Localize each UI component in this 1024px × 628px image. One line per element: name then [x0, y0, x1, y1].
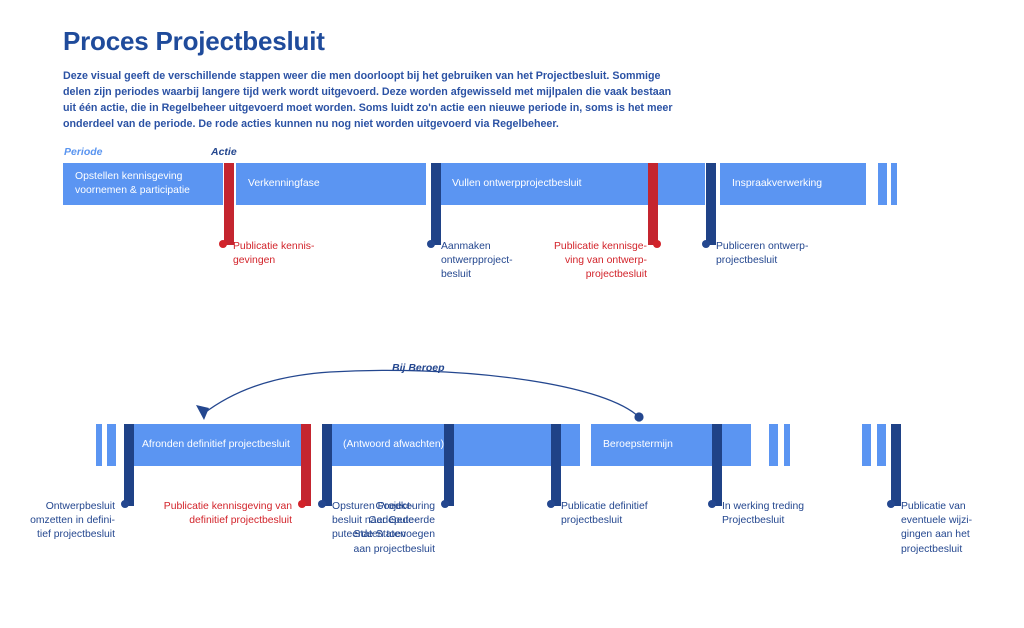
marker-dot-icon	[298, 500, 306, 508]
marker-dot-icon	[702, 240, 710, 248]
period-bar-afronden-definitief-projectbesluit[interactable]: Afronden definitief projectbesluit	[130, 424, 302, 466]
action-label-publiceren-ontwerpprojectbesluit: Publiceren ontwerp- projectbesluit	[702, 240, 832, 268]
timeline-continuation-stub	[862, 424, 871, 466]
action-marker-opsturen-projectbesluit[interactable]	[322, 424, 332, 506]
period-bar-antwoord-afwachten[interactable]: (Antwoord afwachten)	[331, 424, 580, 466]
action-label-line: Staten toevoegen	[354, 529, 435, 540]
action-marker-publicatie-kennisgevingen[interactable]	[224, 163, 234, 245]
action-label-line: projectbesluit	[561, 515, 622, 526]
marker-dot-icon	[708, 500, 716, 508]
period-bar-label: Opstellen kennisgeving voornemen & parti…	[75, 170, 211, 197]
action-label-line: projectbesluit	[586, 269, 647, 280]
action-label-line: tief projectbesluit	[37, 529, 115, 540]
marker-dot-icon	[318, 500, 326, 508]
action-marker-aanmaken-ontwerpprojectbesluit[interactable]	[431, 163, 441, 245]
action-marker-publicatie-kennisgeving-ontwerpprojectbesluit[interactable]	[648, 163, 658, 245]
action-label-line: eventuele wijzi-	[901, 515, 972, 526]
timeline-continuation-stub	[784, 424, 790, 466]
action-label-line: projectbesluit	[716, 255, 777, 266]
action-label-line: Publicatie kennisgeving van	[164, 501, 292, 512]
period-bar-label: (Antwoord afwachten)	[343, 438, 444, 452]
action-label-aanmaken-ontwerpprojectbesluit: Aanmaken ontwerpproject- besluit	[427, 240, 537, 283]
action-label-ontwerpbesluit-omzetten: Ontwerpbesluit omzetten in defini- tief …	[12, 500, 129, 543]
arrow-path	[203, 370, 639, 417]
action-label-publicatie-kennisgeving-ontwerpprojectbesluit: Publicatie kennisge- ving van ontwerp- p…	[533, 240, 661, 283]
marker-dot-icon	[441, 500, 449, 508]
timeline-continuation-stub	[891, 163, 897, 205]
action-marker-publicatie-definitief-projectbesluit[interactable]	[551, 424, 561, 506]
timeline-continuation-stub	[877, 424, 886, 466]
action-marker-goedkeuring-gedeputeerde-staten[interactable]	[444, 424, 454, 506]
action-label-line: Publicatie kennisge-	[554, 241, 647, 252]
action-label-line: besluit	[441, 269, 471, 280]
arrow-head-icon	[196, 405, 209, 420]
action-label-publicatie-kennisgeving-definitief-projectbesluit: Publicatie kennisgeving van definitief p…	[151, 500, 306, 528]
action-label-line: ontwerpproject-	[441, 255, 513, 266]
marker-dot-icon	[219, 240, 227, 248]
action-label-line: Publicatie definitief	[561, 501, 648, 512]
action-label-line: Projectbesluit	[722, 515, 784, 526]
action-label-publicatie-kennisgevingen: Publicatie kennis- gevingen	[219, 240, 339, 268]
timeline-continuation-stub	[769, 424, 778, 466]
period-bar-label: Afronden definitief projectbesluit	[142, 438, 290, 452]
period-bar-label: Verkenningfase	[248, 177, 320, 191]
action-label-line: Publicatie van	[901, 501, 966, 512]
period-bar-beroepstermijn[interactable]: Beroepstermijn	[591, 424, 751, 466]
period-bar-label: Vullen ontwerpprojectbesluit	[452, 177, 582, 191]
action-label-line: projectbesluit	[901, 544, 962, 555]
period-bar-vullen-ontwerpprojectbesluit[interactable]: Vullen ontwerpprojectbesluit	[440, 163, 705, 205]
legend-label-actie: Actie	[211, 146, 237, 158]
action-label-line: In werking treding	[722, 501, 804, 512]
action-label-goedkeuring-gedeputeerde-staten: Goedkeuring Gedeputeerde Staten toevoege…	[330, 500, 449, 557]
action-marker-ontwerpbesluit-omzetten[interactable]	[124, 424, 134, 506]
action-label-in-werking-treding: In werking treding Projectbesluit	[708, 500, 838, 528]
arrow-tail-dot-icon	[634, 412, 643, 421]
marker-dot-icon	[121, 500, 129, 508]
period-bar-label: Inspraakverwerking	[732, 177, 822, 191]
marker-dot-icon	[887, 500, 895, 508]
marker-dot-icon	[427, 240, 435, 248]
marker-dot-icon	[547, 500, 555, 508]
action-label-line: Aanmaken	[441, 241, 491, 252]
action-label-line: Goedkeuring	[376, 501, 436, 512]
action-label-publicatie-eventuele-wijzigingen: Publicatie van eventuele wijzi- gingen a…	[887, 500, 1007, 557]
timeline-continuation-stub	[107, 424, 116, 466]
action-marker-publiceren-ontwerpprojectbesluit[interactable]	[706, 163, 716, 245]
action-marker-publicatie-eventuele-wijzigingen[interactable]	[891, 424, 901, 506]
page-title: Proces Projectbesluit	[63, 26, 325, 57]
action-label-line: definitief projectbesluit	[189, 515, 292, 526]
action-label-line: Publicatie kennis-	[233, 241, 314, 252]
marker-dot-icon	[653, 240, 661, 248]
annotation-label-bij-beroep: Bij Beroep	[392, 362, 445, 374]
action-label-line: gingen aan het	[901, 529, 970, 540]
period-bar-verkenningfase[interactable]: Verkenningfase	[236, 163, 426, 205]
period-bar-inspraakverwerking[interactable]: Inspraakverwerking	[720, 163, 866, 205]
action-label-line: ving van ontwerp-	[565, 255, 647, 266]
timeline-continuation-stub	[878, 163, 887, 205]
page-intro-paragraph: Deze visual geeft de verschillende stapp…	[63, 68, 683, 132]
action-label-publicatie-definitief-projectbesluit: Publicatie definitief projectbesluit	[547, 500, 677, 528]
action-label-line: Ontwerpbesluit	[46, 501, 115, 512]
action-marker-in-werking-treding[interactable]	[712, 424, 722, 506]
action-label-line: Publiceren ontwerp-	[716, 241, 808, 252]
action-label-line: Gedeputeerde	[369, 515, 435, 526]
action-label-line: omzetten in defini-	[30, 515, 115, 526]
action-label-line: gevingen	[233, 255, 275, 266]
timeline-continuation-stub	[96, 424, 102, 466]
action-marker-publicatie-kennisgeving-definitief-projectbesluit[interactable]	[301, 424, 311, 506]
action-label-line: aan projectbesluit	[354, 544, 435, 555]
period-bar-opstellen-kennisgeving[interactable]: Opstellen kennisgeving voornemen & parti…	[63, 163, 223, 205]
legend-label-periode: Periode	[64, 146, 103, 158]
period-bar-label: Beroepstermijn	[603, 438, 673, 452]
diagram-canvas: Proces Projectbesluit Deze visual geeft …	[0, 0, 1024, 628]
